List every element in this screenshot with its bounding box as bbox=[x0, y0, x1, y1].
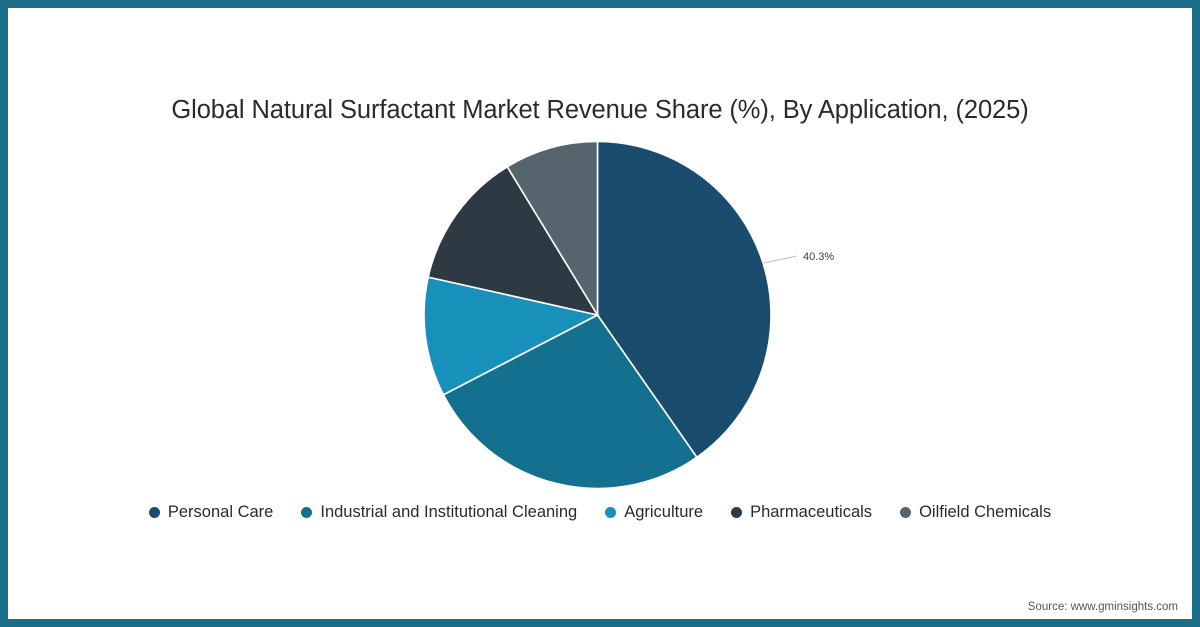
legend-item-label: Pharmaceuticals bbox=[750, 503, 872, 522]
pie-data-label-personal-care: 40.3% bbox=[803, 251, 834, 263]
chart-figure: Global Natural Surfactant Market Revenue… bbox=[0, 0, 1200, 627]
legend-item[interactable]: Pharmaceuticals bbox=[731, 503, 872, 522]
legend-item-label: Oilfield Chemicals bbox=[919, 503, 1051, 522]
legend-item[interactable]: Agriculture bbox=[605, 503, 703, 522]
pie-chart-svg bbox=[0, 0, 1200, 627]
legend-item-label: Agriculture bbox=[624, 503, 703, 522]
legend-swatch-icon bbox=[731, 507, 742, 518]
legend-swatch-icon bbox=[149, 507, 160, 518]
legend-swatch-icon bbox=[900, 507, 911, 518]
legend-item-label: Industrial and Institutional Cleaning bbox=[320, 503, 577, 522]
legend-swatch-icon bbox=[301, 507, 312, 518]
pie-leader-lines-group bbox=[762, 256, 797, 263]
source-note: Source: www.gminsights.com bbox=[1028, 601, 1178, 613]
legend-item-label: Personal Care bbox=[168, 503, 273, 522]
legend-swatch-icon bbox=[605, 507, 616, 518]
chart-legend: Personal CareIndustrial and Institutiona… bbox=[0, 503, 1200, 522]
pie-slices-group bbox=[424, 142, 771, 489]
legend-item[interactable]: Industrial and Institutional Cleaning bbox=[301, 503, 577, 522]
legend-item[interactable]: Oilfield Chemicals bbox=[900, 503, 1051, 522]
pie-plot-area: 40.3% bbox=[0, 0, 1200, 627]
pie-leader-line bbox=[762, 256, 797, 263]
legend-item[interactable]: Personal Care bbox=[149, 503, 273, 522]
